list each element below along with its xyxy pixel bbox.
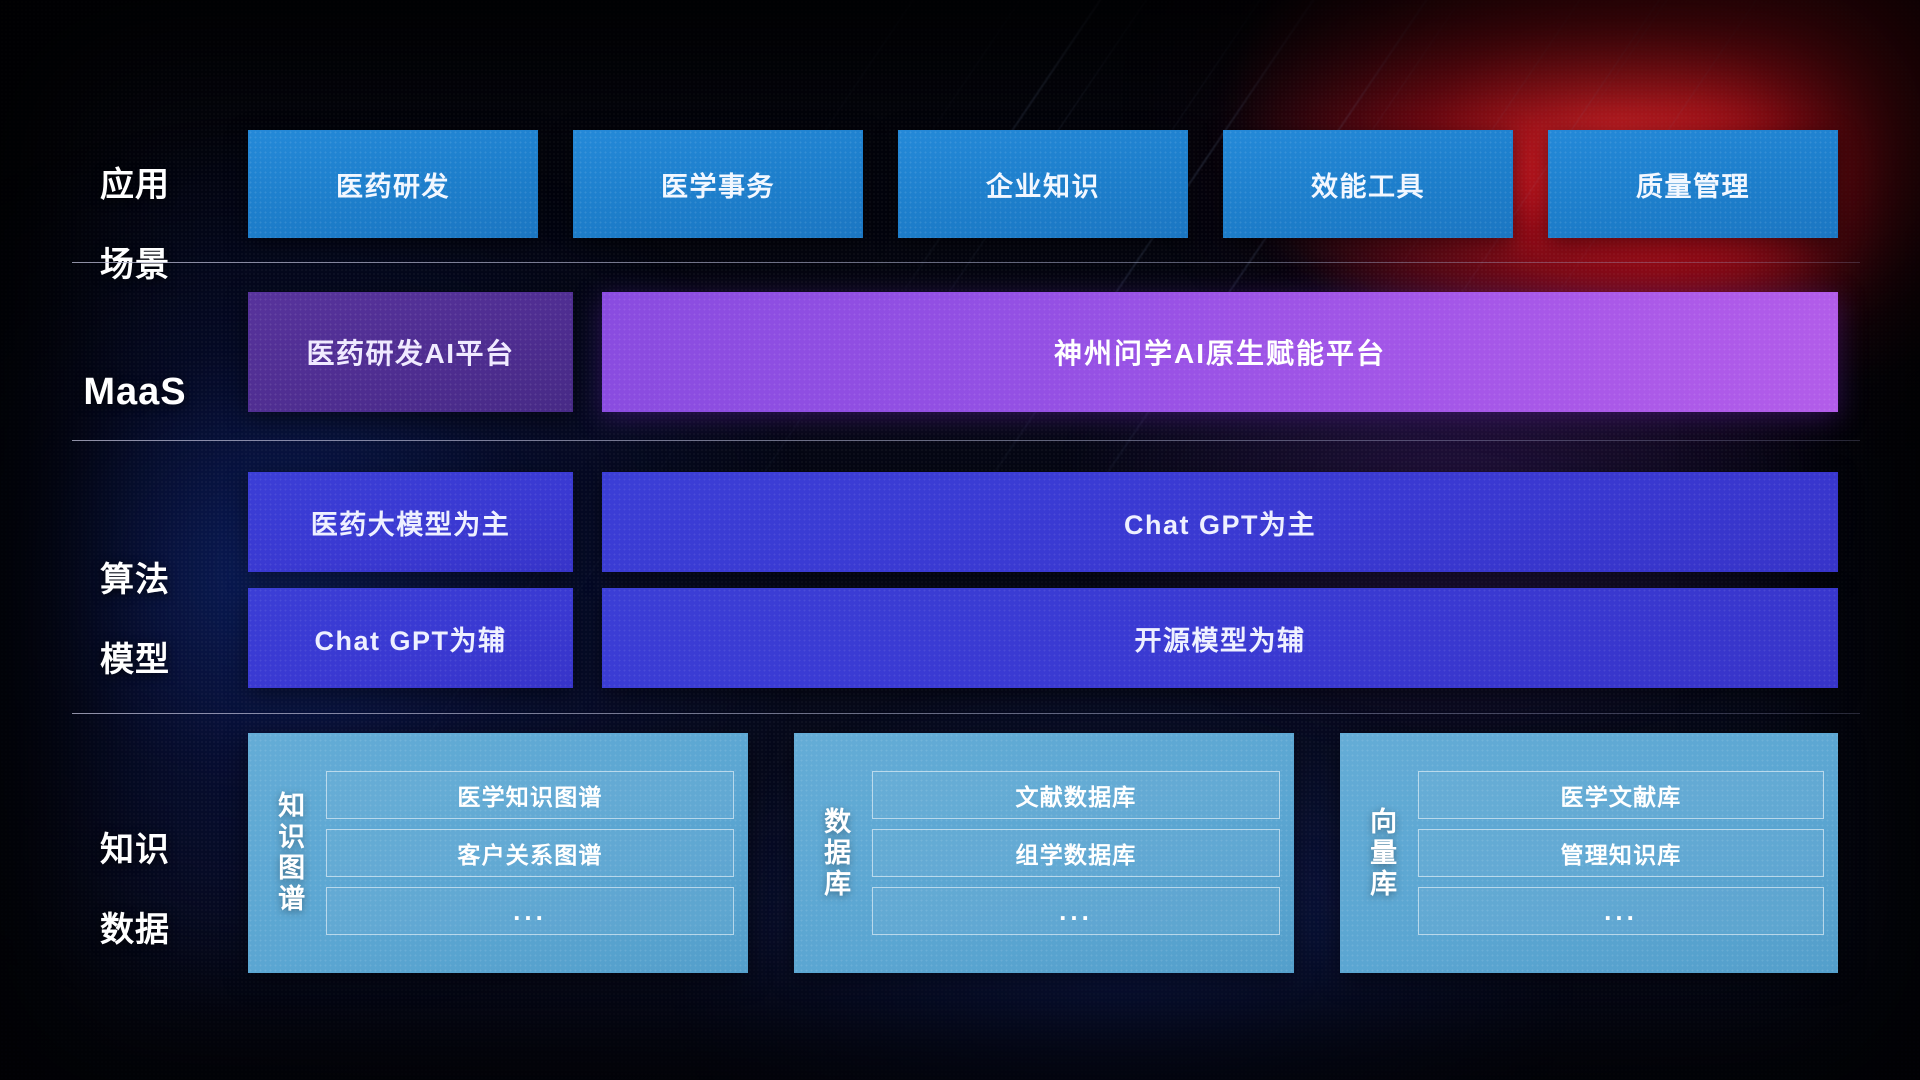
app-scenario-box-quality-management[interactable]: 质量管理: [1548, 130, 1838, 238]
knowledge-panel-database[interactable]: 数据库 文献数据库 组学数据库 ...: [794, 733, 1294, 973]
knowledge-panel-vertical-label: 数据库: [808, 807, 862, 900]
app-scenario-box-medical-affairs[interactable]: 医学事务: [573, 130, 863, 238]
row-label-line: 场景: [72, 245, 198, 285]
knowledge-panel-vertical-label: 知识图谱: [262, 791, 316, 915]
knowledge-item[interactable]: 文献数据库: [872, 771, 1280, 819]
row-divider-1: [72, 262, 1860, 263]
knowledge-panel-item-list: 医学知识图谱 客户关系图谱 ...: [326, 771, 734, 935]
algo-box-medicine-llm-primary[interactable]: 医药大模型为主: [248, 472, 573, 572]
row-label-line: 知识: [72, 830, 198, 870]
maas-box-medicine-ai-platform[interactable]: 医药研发AI平台: [248, 292, 573, 412]
row-label-line: MaaS: [72, 370, 198, 415]
row-divider-3: [72, 713, 1860, 714]
row-label-line: 算法: [72, 560, 198, 600]
knowledge-panel-item-list: 文献数据库 组学数据库 ...: [872, 771, 1280, 935]
app-scenario-label: 效能工具: [1311, 165, 1425, 204]
algo-box-label: 医药大模型为主: [311, 503, 511, 542]
maas-box-label: 医药研发AI平台: [306, 332, 514, 372]
app-scenario-box-enterprise-knowledge[interactable]: 企业知识: [898, 130, 1188, 238]
algo-box-label: Chat GPT为辅: [314, 619, 506, 658]
maas-box-label: 神州问学AI原生赋能平台: [1054, 332, 1386, 372]
knowledge-item[interactable]: 管理知识库: [1418, 829, 1824, 877]
knowledge-panel-vector-store[interactable]: 向量库 医学文献库 管理知识库 ...: [1340, 733, 1838, 973]
knowledge-item[interactable]: 医学文献库: [1418, 771, 1824, 819]
app-scenario-label: 质量管理: [1636, 165, 1750, 204]
app-scenario-label: 医药研发: [336, 165, 450, 204]
app-scenario-label: 企业知识: [986, 165, 1100, 204]
row-label-line: 应用: [72, 165, 198, 205]
algo-box-label: Chat GPT为主: [1124, 503, 1316, 542]
knowledge-item[interactable]: 医学知识图谱: [326, 771, 734, 819]
row-divider-2: [72, 440, 1860, 441]
app-scenario-box-efficiency-tools[interactable]: 效能工具: [1223, 130, 1513, 238]
knowledge-panel-item-list: 医学文献库 管理知识库 ...: [1418, 771, 1824, 935]
row-label-algorithm-models: 算法 模型: [72, 520, 198, 721]
knowledge-item[interactable]: 客户关系图谱: [326, 829, 734, 877]
knowledge-item[interactable]: 组学数据库: [872, 829, 1280, 877]
maas-box-shenzhou-wenxue-platform[interactable]: 神州问学AI原生赋能平台: [602, 292, 1838, 412]
knowledge-item-more[interactable]: ...: [326, 887, 734, 935]
row-label-line: 模型: [72, 640, 198, 680]
row-label-knowledge-data: 知识 数据: [72, 790, 198, 991]
knowledge-item-more[interactable]: ...: [872, 887, 1280, 935]
algo-box-label: 开源模型为辅: [1135, 619, 1306, 658]
algo-box-chatgpt-secondary[interactable]: Chat GPT为辅: [248, 588, 573, 688]
knowledge-item-more[interactable]: ...: [1418, 887, 1824, 935]
knowledge-panel-vertical-label: 向量库: [1354, 807, 1408, 900]
algo-box-chatgpt-primary[interactable]: Chat GPT为主: [602, 472, 1838, 572]
app-scenario-box-medicine-rd[interactable]: 医药研发: [248, 130, 538, 238]
knowledge-panel-knowledge-graph[interactable]: 知识图谱 医学知识图谱 客户关系图谱 ...: [248, 733, 748, 973]
row-label-line: 数据: [72, 910, 198, 950]
architecture-diagram: 应用 场景 医药研发 医学事务 企业知识 效能工具 质量管理 MaaS 医药研发…: [0, 0, 1920, 1080]
app-scenario-label: 医学事务: [661, 165, 775, 204]
row-label-application-scenarios: 应用 场景: [72, 125, 198, 326]
algo-box-opensource-secondary[interactable]: 开源模型为辅: [602, 588, 1838, 688]
